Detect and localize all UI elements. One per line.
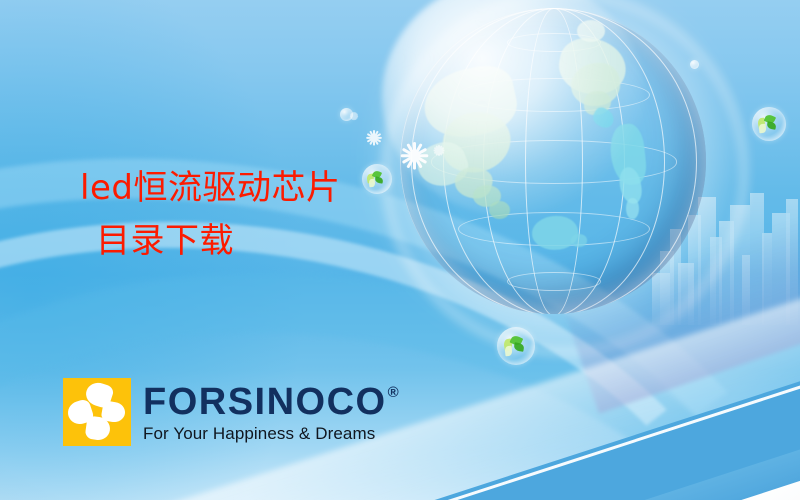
brand-name: FORSINOCO®	[143, 383, 400, 421]
leaf-petal	[767, 121, 777, 130]
bubble-decoration	[340, 108, 353, 121]
pinwheel-flower-icon	[63, 378, 131, 446]
leaf-petal	[513, 343, 524, 353]
leaf-emblem-icon	[758, 115, 780, 134]
registered-trademark-icon: ®	[388, 385, 401, 400]
company-logo[interactable]: FORSINOCO® For Your Happiness & Dreams	[63, 378, 400, 446]
leaf-emblem-icon	[504, 336, 528, 357]
headline-line-1: led恒流驱动芯片	[80, 168, 340, 208]
leaf-petal	[759, 124, 766, 133]
headline-line-2: 目录下载	[80, 215, 420, 268]
brand-tagline: For Your Happiness & Dreams	[143, 425, 400, 442]
brand-name-text: FORSINOCO	[143, 383, 387, 421]
bubble-decoration	[752, 107, 786, 141]
logo-wordmark: FORSINOCO® For Your Happiness & Dreams	[143, 383, 400, 442]
banner-image: led恒流驱动芯片目录下载 FORSINOCO® For Your Happin…	[0, 0, 800, 500]
snowflake-decoration-icon	[365, 129, 382, 146]
snowflake-decoration-icon	[433, 145, 445, 157]
continent-shape	[577, 20, 605, 41]
bubble-decoration	[497, 327, 535, 365]
bubble-decoration	[690, 60, 699, 69]
headline-text: led恒流驱动芯片目录下载	[80, 162, 420, 267]
